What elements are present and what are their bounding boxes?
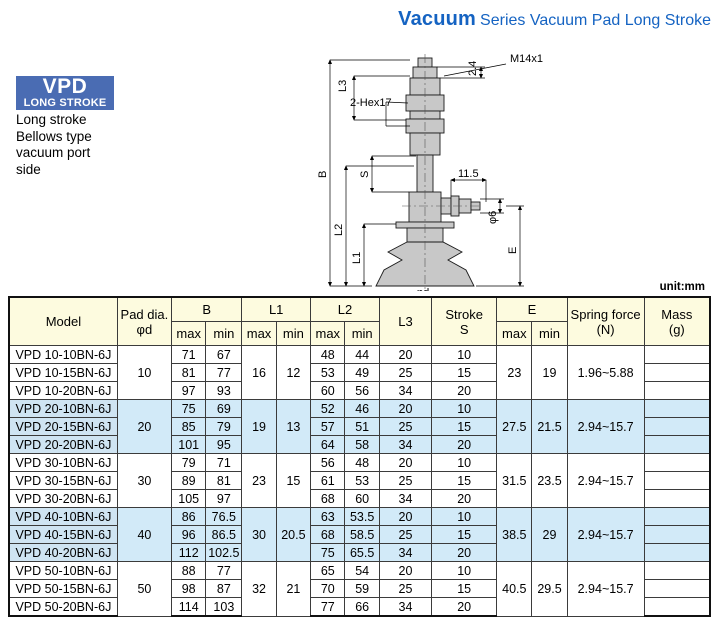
cell-l1-max: 23 [242,454,276,508]
cell-stroke: 15 [432,472,497,490]
vpd-badge-code: VPD [16,76,114,97]
cell-mass [644,508,710,526]
cell-l2-min: 66 [345,598,379,617]
header-mass: Mass (g) [644,297,710,346]
header-L3: L3 [379,297,431,346]
cell-e-min: 19 [532,346,567,400]
cell-stroke: 20 [432,598,497,617]
cell-l1-min: 20.5 [276,508,310,562]
cell-spring-force: 2.94~15.7 [567,562,644,617]
dim-label-hex: 2-Hex17 [350,97,392,109]
cell-b-min: 76.5 [206,508,242,526]
header-B: B [171,297,241,322]
cell-b-max: 97 [171,382,205,400]
header-E: E [497,297,567,322]
cell-spring-force: 2.94~15.7 [567,508,644,562]
cell-l1-min: 21 [276,562,310,617]
cell-mass [644,364,710,382]
page-title: VacuumSeries Vacuum Pad Long Stroke [398,8,711,31]
cell-mass [644,346,710,364]
cell-b-max: 101 [171,436,205,454]
cell-l2-max: 68 [311,526,345,544]
cell-model: VPD 50-15BN-6J [9,580,117,598]
title-sub: Series Vacuum Pad Long Stroke [480,12,711,29]
dim-label-E: E [507,247,519,254]
cell-l3: 25 [379,472,431,490]
cell-l2-min: 49 [345,364,379,382]
dim-label-phid: φd [416,287,429,291]
dim-label-L3-vert: L3 [337,80,349,92]
cell-l1-min: 13 [276,400,310,454]
cell-e-min: 29 [532,508,567,562]
cell-l2-min: 53.5 [345,508,379,526]
cell-l3: 20 [379,454,431,472]
cell-l2-max: 70 [311,580,345,598]
cell-e-min: 21.5 [532,400,567,454]
cell-l2-min: 56 [345,382,379,400]
cell-l2-min: 51 [345,418,379,436]
cell-b-min: 77 [206,562,242,580]
cell-b-min: 86.5 [206,526,242,544]
cell-b-max: 105 [171,490,205,508]
cell-spring-force: 2.94~15.7 [567,454,644,508]
cell-b-max: 98 [171,580,205,598]
cell-l2-min: 65.5 [345,544,379,562]
cell-stroke: 20 [432,436,497,454]
cell-stroke: 15 [432,364,497,382]
cell-model: VPD 30-10BN-6J [9,454,117,472]
cell-model: VPD 20-20BN-6J [9,436,117,454]
table-row[interactable]: VPD 30-10BN-6J30797123155648201031.523.5… [9,454,710,472]
cell-b-max: 86 [171,508,205,526]
cell-pad-dia: 50 [117,562,171,617]
cell-l2-min: 59 [345,580,379,598]
header-pad-dia: Pad dia. φd [117,297,171,346]
cell-pad-dia: 30 [117,454,171,508]
unit-note: unit:mm [660,281,705,293]
cell-stroke: 10 [432,562,497,580]
cell-l3: 20 [379,562,431,580]
table-body: VPD 10-10BN-6J10716716124844201023191.96… [9,346,710,617]
cell-mass [644,400,710,418]
cell-model: VPD 30-15BN-6J [9,472,117,490]
cell-mass [644,490,710,508]
cell-l2-min: 54 [345,562,379,580]
cell-l2-max: 63 [311,508,345,526]
cell-mass [644,382,710,400]
cell-stroke: 20 [432,544,497,562]
header-spring-line1: Spring force [568,307,644,322]
dim-label-phi6: φ6 [487,211,499,224]
cell-l3: 25 [379,580,431,598]
table-row[interactable]: VPD 40-10BN-6J408676.53020.56353.5201038… [9,508,710,526]
cell-spring-force: 2.94~15.7 [567,400,644,454]
header-L1-min: min [276,322,310,346]
cell-b-min: 81 [206,472,242,490]
cell-e-max: 40.5 [497,562,532,617]
table-row[interactable]: VPD 20-10BN-6J20756919135246201027.521.5… [9,400,710,418]
cell-l2-min: 46 [345,400,379,418]
cell-l2-min: 60 [345,490,379,508]
cell-l1-min: 15 [276,454,310,508]
cell-mass [644,526,710,544]
header-mass-line1: Mass [645,307,709,322]
dim-label-S: S [359,171,371,178]
cell-mass [644,418,710,436]
cell-l3: 34 [379,598,431,617]
cell-e-max: 27.5 [497,400,532,454]
cell-l1-max: 19 [242,400,276,454]
cell-model: VPD 20-10BN-6J [9,400,117,418]
cell-b-min: 67 [206,346,242,364]
cell-stroke: 10 [432,454,497,472]
header-L2-min: min [345,322,379,346]
header-pad-dia-line2: φd [118,322,171,337]
cell-model: VPD 30-20BN-6J [9,490,117,508]
cell-stroke: 10 [432,508,497,526]
cell-l2-min: 58.5 [345,526,379,544]
cell-spring-force: 1.96~5.88 [567,346,644,400]
cell-model: VPD 50-10BN-6J [9,562,117,580]
table-row[interactable]: VPD 50-10BN-6J50887732216554201040.529.5… [9,562,710,580]
vpd-badge: VPD LONG STROKE [16,76,114,110]
cell-pad-dia: 10 [117,346,171,400]
cell-l2-max: 52 [311,400,345,418]
cell-b-max: 79 [171,454,205,472]
cell-stroke: 20 [432,382,497,400]
header-pad-dia-line1: Pad dia. [118,307,171,322]
cell-model: VPD 10-15BN-6J [9,364,117,382]
cell-mass [644,598,710,617]
cell-l2-max: 56 [311,454,345,472]
cell-b-max: 81 [171,364,205,382]
title-main: Vacuum [398,8,476,30]
cell-l2-max: 57 [311,418,345,436]
product-technical-drawing: M14x1 2-Hex17 2.4 11.5 φ6 E S B L2 L1 L3… [310,46,550,291]
cell-b-min: 102.5 [206,544,242,562]
vpd-description: Long strokeBellows typevacuum portside [16,112,146,178]
header-B-min: min [206,322,242,346]
cell-stroke: 15 [432,580,497,598]
cell-e-min: 23.5 [532,454,567,508]
cell-l3: 25 [379,364,431,382]
cell-b-min: 97 [206,490,242,508]
cell-l2-max: 77 [311,598,345,617]
header-stroke-line1: Stroke [432,307,496,322]
cell-mass [644,436,710,454]
cell-model: VPD 50-20BN-6J [9,598,117,617]
cell-mass [644,454,710,472]
cell-l2-max: 75 [311,544,345,562]
cell-l3: 20 [379,346,431,364]
dim-label-B: B [317,171,329,178]
cell-l3: 25 [379,526,431,544]
header-mass-line2: (g) [645,322,709,337]
cell-l2-min: 53 [345,472,379,490]
header-stroke-line2: S [432,322,496,337]
cell-stroke: 15 [432,526,497,544]
cell-l2-min: 44 [345,346,379,364]
cell-b-min: 87 [206,580,242,598]
cell-l3: 20 [379,400,431,418]
table-row[interactable]: VPD 10-10BN-6J10716716124844201023191.96… [9,346,710,364]
cell-mass [644,544,710,562]
dim-label-L1: L1 [351,252,363,264]
cell-mass [644,562,710,580]
header-E-min: min [532,322,567,346]
cell-l2-min: 58 [345,436,379,454]
header-model: Model [9,297,117,346]
header-L2-max: max [311,322,345,346]
header-stroke: Stroke S [432,297,497,346]
cell-l3: 25 [379,418,431,436]
cell-b-min: 95 [206,436,242,454]
cell-l2-max: 48 [311,346,345,364]
cell-l3: 34 [379,436,431,454]
cell-l3: 20 [379,508,431,526]
cell-l2-max: 61 [311,472,345,490]
cell-model: VPD 40-20BN-6J [9,544,117,562]
cell-model: VPD 10-20BN-6J [9,382,117,400]
cell-l1-max: 30 [242,508,276,562]
cell-b-min: 79 [206,418,242,436]
cell-e-max: 38.5 [497,508,532,562]
cell-e-max: 31.5 [497,454,532,508]
cell-e-min: 29.5 [532,562,567,617]
cell-b-min: 93 [206,382,242,400]
cell-model: VPD 10-10BN-6J [9,346,117,364]
cell-l1-max: 32 [242,562,276,617]
cell-mass [644,580,710,598]
cell-l2-max: 68 [311,490,345,508]
cell-b-min: 77 [206,364,242,382]
cell-b-max: 75 [171,400,205,418]
header-spring-line2: (N) [568,322,644,337]
cell-b-max: 85 [171,418,205,436]
dim-label-L2: L2 [333,224,345,236]
cell-stroke: 10 [432,346,497,364]
cell-b-max: 89 [171,472,205,490]
cell-model: VPD 40-15BN-6J [9,526,117,544]
cell-model: VPD 40-10BN-6J [9,508,117,526]
cell-l2-max: 53 [311,364,345,382]
header-B-max: max [171,322,205,346]
cell-l2-min: 48 [345,454,379,472]
cell-l2-max: 64 [311,436,345,454]
header-L1-max: max [242,322,276,346]
header-E-max: max [497,322,532,346]
cell-l1-max: 16 [242,346,276,400]
cell-b-min: 69 [206,400,242,418]
cell-l3: 34 [379,544,431,562]
header-spring-force: Spring force (N) [567,297,644,346]
cell-l2-max: 65 [311,562,345,580]
cell-b-min: 103 [206,598,242,617]
cell-model: VPD 20-15BN-6J [9,418,117,436]
cell-b-max: 112 [171,544,205,562]
cell-pad-dia: 20 [117,400,171,454]
cell-l1-min: 12 [276,346,310,400]
header-L1: L1 [242,297,311,322]
vpd-badge-tagline: LONG STROKE [16,97,114,109]
cell-b-max: 88 [171,562,205,580]
specification-table: Model Pad dia. φd B L1 L2 L3 Stroke S E … [8,296,711,617]
cell-b-min: 71 [206,454,242,472]
cell-l3: 34 [379,490,431,508]
cell-pad-dia: 40 [117,508,171,562]
dim-label-11-5: 11.5 [458,168,479,180]
table-header: Model Pad dia. φd B L1 L2 L3 Stroke S E … [9,297,710,346]
cell-stroke: 10 [432,400,497,418]
cell-stroke: 15 [432,418,497,436]
cell-mass [644,472,710,490]
dim-label-2-4: 2.4 [467,61,479,76]
header-L2: L2 [311,297,380,322]
cell-stroke: 20 [432,490,497,508]
cell-b-max: 114 [171,598,205,617]
cell-b-max: 96 [171,526,205,544]
cell-e-max: 23 [497,346,532,400]
dim-label-thread: M14x1 [510,53,543,65]
cell-b-max: 71 [171,346,205,364]
cell-l3: 34 [379,382,431,400]
cell-l2-max: 60 [311,382,345,400]
